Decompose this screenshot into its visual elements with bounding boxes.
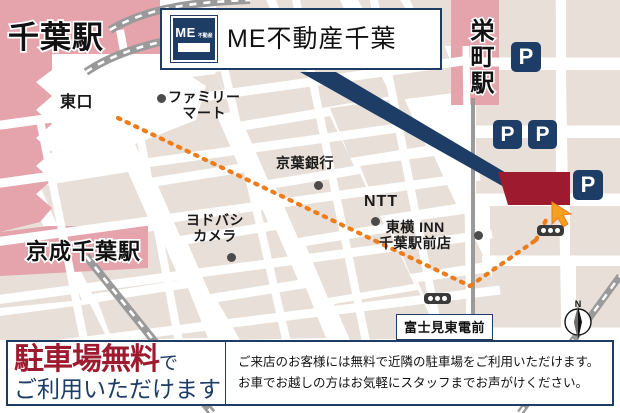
parking-icon-2[interactable]: P [493, 120, 522, 149]
logo-mark-me-text: ME [175, 26, 196, 39]
poi-dot-familymart [157, 94, 166, 103]
parking-icon-4[interactable]: P [573, 170, 603, 200]
compass-north-label: N [563, 299, 593, 309]
poi-label-ntt: NTT [364, 193, 398, 211]
poi-toyoko-inn-line1: 東横 INN [386, 219, 445, 235]
banner-headline-particle: で [159, 353, 178, 374]
traffic-signal-icon-1 [537, 225, 564, 236]
poi-label-keiyo-bank: 京葉銀行 [276, 156, 334, 172]
station-label-sakaecho: 栄町駅 [462, 18, 497, 96]
poi-dot-keiyo-bank [314, 181, 323, 190]
company-name: ME不動産千葉 [227, 27, 397, 52]
poi-familymart-line2: マート [183, 105, 227, 121]
banner-headline: 駐車場無料で ご利用いただけます [8, 342, 226, 404]
parking-free-banner: 駐車場無料で ご利用いただけます ご来店のお客様には無料で近隣の駐車場をご利用い… [6, 340, 614, 406]
banner-desc-line2: お車でお越しの方はお気軽にスタッフまでお声がけください。 [238, 373, 612, 394]
poi-yodobashi-line1: ヨドバシ [186, 212, 244, 228]
poi-label-familymart: ファミリー マート [168, 89, 241, 121]
target-building [498, 172, 570, 205]
banner-headline-line1: 駐車場無料で [14, 345, 225, 375]
company-logo-box[interactable]: ME 不動産 ME不動産千葉 [160, 8, 442, 70]
poi-dot-yodobashi [227, 253, 236, 262]
compass: N [563, 299, 593, 341]
poi-familymart-line1: ファミリー [168, 89, 241, 105]
traffic-signal-icon-2 [424, 293, 451, 304]
poi-toyoko-inn-line2: 千葉駅前店 [379, 235, 452, 251]
intersection-label-fujimi: 富士見東電前 [396, 314, 493, 340]
map-flyer: 千葉駅 栄町駅 京成千葉駅 東口 ファミリー マート 京葉銀行 ヨドバシ カメラ… [0, 0, 620, 413]
exit-label-higashiguchi: 東口 [60, 94, 93, 112]
poi-yodobashi-line2: カメラ [193, 228, 237, 244]
parking-icon-1[interactable]: P [511, 42, 541, 72]
logo-mark-bar [178, 43, 210, 52]
poi-label-yodobashi: ヨドバシ カメラ [186, 212, 244, 244]
me-logo-icon: ME 不動産 [171, 16, 217, 62]
station-label-keisei-chiba: 京成千葉駅 [26, 234, 141, 266]
parking-icon-3[interactable]: P [528, 120, 557, 149]
logo-mark-sub-text: 不動産 [198, 34, 213, 39]
banner-headline-line2: ご利用いただけます [14, 377, 225, 401]
banner-desc-line1: ご来店のお客様には無料で近隣の駐車場をご利用いただけます。 [238, 352, 612, 373]
poi-label-toyoko-inn: 東横 INN 千葉駅前店 [379, 219, 452, 251]
banner-headline-emphasis: 駐車場無料 [14, 343, 159, 376]
station-label-chiba: 千葉駅 [8, 12, 104, 57]
banner-description: ご来店のお客様には無料で近隣の駐車場をご利用いただけます。 お車でお越しの方はお… [226, 352, 612, 393]
poi-dot-toyoko-inn [474, 231, 483, 240]
